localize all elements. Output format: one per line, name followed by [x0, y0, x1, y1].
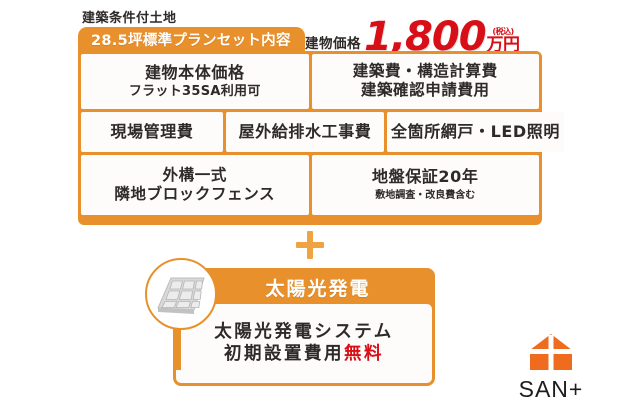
solar-panel-icon — [145, 258, 217, 330]
spec-cell-title: 建物本体価格 — [145, 64, 245, 82]
solar-cost-free: 無料 — [344, 344, 384, 364]
solar-cost-prefix: 初期設置費用 — [224, 344, 344, 364]
spec-cell-title-line2: 建築確認申請費用 — [361, 81, 490, 100]
solar-body: 太陽光発電システム 初期設置費用無料 — [176, 304, 432, 383]
brand-name: SAN+ — [519, 378, 584, 401]
spec-row: 建物本体価格 フラット35SA利用可 建築費・構造計算費 建築確認申請費用 — [81, 54, 539, 109]
spec-cell-exterior-set: 外構一式 隣地ブロックフェンス — [81, 155, 309, 215]
spec-cell-building-base-price: 建物本体価格 フラット35SA利用可 — [81, 54, 309, 109]
spec-cell-site-management-fee: 現場管理費 — [81, 112, 223, 152]
spec-panel: 建物本体価格 フラット35SA利用可 建築費・構造計算費 建築確認申請費用 現場… — [78, 51, 542, 225]
solar-cost-line: 初期設置費用無料 — [224, 345, 384, 364]
spec-cell-screens-led: 全箇所網戸・LED照明 — [387, 112, 564, 152]
land-condition-note: 建築条件付土地 — [82, 7, 177, 26]
solar-system-line: 太陽光発電システム — [214, 323, 393, 342]
spec-row: 現場管理費 屋外給排水工事費 全箇所網戸・LED照明 — [81, 112, 539, 152]
spec-cell-outdoor-plumbing-fee: 屋外給排水工事費 — [226, 112, 384, 152]
spec-cell-title-line2: 隣地ブロックフェンス — [114, 185, 275, 204]
spec-cell-subtitle: フラット35SA利用可 — [129, 84, 261, 100]
solar-power-block: 太陽光発電 太陽光発電システム 初期設置費用無料 — [173, 268, 435, 386]
house-icon — [529, 333, 573, 375]
spec-cell-title: 全箇所網戸・LED照明 — [391, 123, 560, 141]
advertisement-canvas: 建築条件付土地 28.5坪標準プランセット内容 建物価格 1,800 (税込) … — [0, 0, 620, 413]
plan-set-tab-label: 28.5坪標準プランセット内容 — [91, 29, 291, 50]
spec-cell-title: 現場管理費 — [110, 123, 193, 141]
plus-icon — [296, 231, 324, 259]
plan-set-tab: 28.5坪標準プランセット内容 — [78, 27, 305, 52]
spec-cell-title: 外構一式 — [163, 167, 227, 185]
spec-row: 外構一式 隣地ブロックフェンス 地盤保証20年 敷地調査・改良費含む — [81, 155, 539, 215]
spec-cell-title: 建築費・構造計算費 — [353, 63, 498, 81]
spec-cell-title: 屋外給排水工事費 — [239, 123, 372, 141]
brand-logo: SAN+ — [505, 333, 597, 401]
spec-cell-title: 地盤保証20年 — [372, 168, 478, 186]
spec-cell-ground-warranty: 地盤保証20年 敷地調査・改良費含む — [312, 155, 540, 215]
spec-cell-subtitle: 敷地調査・改良費含む — [375, 190, 475, 202]
solar-header-label: 太陽光発電 — [237, 274, 370, 301]
spec-cell-construction-fee: 建築費・構造計算費 建築確認申請費用 — [312, 54, 540, 109]
